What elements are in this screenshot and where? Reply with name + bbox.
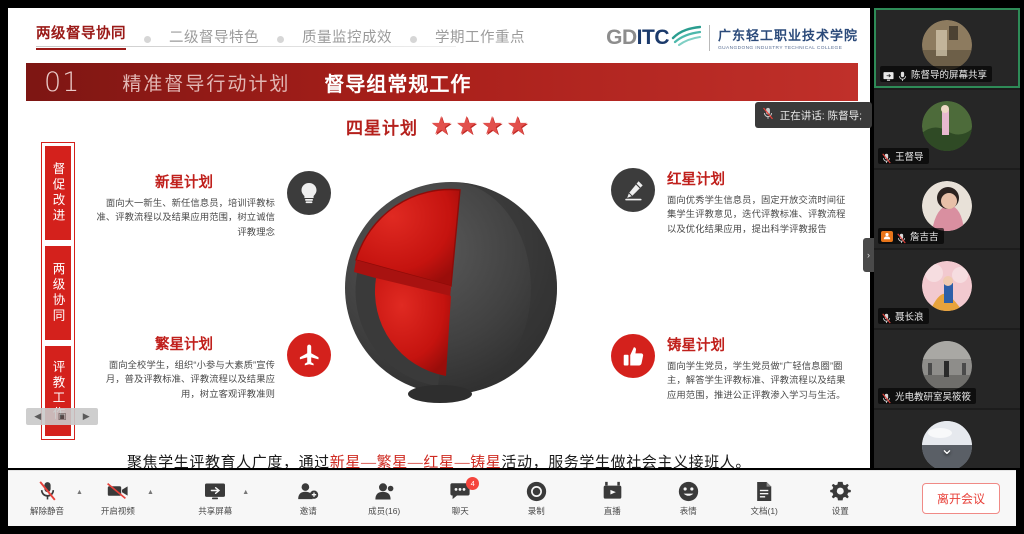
live-broadcast-icon <box>602 480 623 502</box>
plan-cast-star-body: 面向学生党员，学生党员做“广轻信息圈”圈主，解答学生评教标准、评教流程以及结果应… <box>667 359 849 402</box>
video-toggle-button[interactable]: 开启视频 <box>93 480 143 517</box>
slide-tab-3[interactable]: 学期工作重点 <box>435 26 525 47</box>
chat-label: 聊天 <box>452 505 469 517</box>
camera-off-icon <box>107 480 129 502</box>
slide-next-icon[interactable]: ▶ <box>83 411 90 422</box>
record-icon <box>526 480 547 502</box>
ribbon-segment-1: 两级协同 <box>45 246 71 340</box>
fourstar-rating: ★ ★ ★ ★ <box>430 114 529 139</box>
fourstar-heading: 四星计划 ★ ★ ★ ★ <box>346 114 529 139</box>
plan-new-star: 新星计划 面向大一新生、新任信息员，培训评教标准、评教流程以及结果应用范围，树立… <box>93 171 331 239</box>
logo-swoosh-icon <box>671 24 701 51</box>
avatar <box>922 101 972 151</box>
conclusion-prefix: 聚焦学生评教育人广度，通过 <box>127 455 330 468</box>
vertical-ribbon: 督促改进 两级协同 评教工作 <box>45 146 71 436</box>
plan-many-star-title: 繁星计划 <box>93 333 275 354</box>
star-icon: ★ <box>481 114 503 139</box>
slide-tab-2[interactable]: 质量监控成效 <box>302 26 392 47</box>
participant-filmstrip[interactable]: 陈督导的屏幕共享 <box>874 8 1020 468</box>
record-label: 录制 <box>528 505 545 517</box>
toolbar-right-group: 离开会议 <box>922 483 1000 514</box>
plan-new-star-body: 面向大一新生、新任信息员，培训评教标准、评教流程以及结果应用范围，树立诚信评教理… <box>93 196 275 239</box>
participant-tile[interactable]: 陈督导的屏幕共享 <box>874 8 1020 88</box>
tab-separator-dot-icon <box>410 36 417 43</box>
plan-cast-star-title: 铸星计划 <box>667 334 849 355</box>
star-icon: ★ <box>506 114 528 139</box>
plan-many-star-body: 面向全校学生，组织“小参与大素质”宣传月，普及评教标准、评教流程以及结果应用，树… <box>93 358 275 401</box>
plan-new-star-text: 新星计划 面向大一新生、新任信息员，培训评教标准、评教流程以及结果应用范围，树立… <box>93 171 275 239</box>
settings-button[interactable]: 设置 <box>815 480 865 517</box>
participant-name-chip: 王督导 <box>878 148 929 164</box>
screen-share-icon <box>883 69 894 80</box>
participants-icon <box>373 480 395 502</box>
slide-grid-icon[interactable]: ▣ <box>58 411 67 422</box>
live-broadcast-label: 直播 <box>604 505 621 517</box>
sphere-diagram <box>320 160 582 408</box>
live-broadcast-button[interactable]: 直播 <box>587 480 637 517</box>
share-screen-label: 共享屏幕 <box>198 505 232 517</box>
plan-red-star: 红星计划 面向优秀学生信息员，固定开放交流时间征集学生评教意见，迭代评教标准、评… <box>611 168 849 236</box>
microphone-muted-icon <box>38 480 57 502</box>
participant-name-chip: 光电教研室吴筱筱 <box>878 388 976 404</box>
emoji-button[interactable]: 表情 <box>663 480 713 517</box>
host-badge-icon <box>881 231 893 242</box>
participant-name: 光电教研室吴筱筱 <box>895 389 971 403</box>
plan-new-star-title: 新星计划 <box>93 171 275 192</box>
microphone-muted-icon <box>896 231 907 242</box>
toolbar-center-group: 共享屏幕 ▲ 邀请 <box>190 480 865 517</box>
star-icon: ★ <box>455 114 477 139</box>
participant-name-chip: 詹吉吉 <box>878 228 944 244</box>
participant-tile[interactable]: ⌄ <box>874 410 1020 468</box>
invite-person-icon <box>297 480 319 502</box>
gear-icon <box>830 480 851 502</box>
emoji-icon <box>678 480 699 502</box>
fourstar-label: 四星计划 <box>346 114 418 139</box>
slide-title-band: 01 精准督导行动计划 督导组常规工作 <box>26 63 858 101</box>
chat-button[interactable]: 4 聊天 <box>435 480 485 517</box>
logo-gd-text: GD <box>606 26 637 50</box>
document-icon <box>755 480 773 502</box>
slide-prev-icon[interactable]: ◀ <box>34 411 41 422</box>
participant-name: 聂长浪 <box>895 309 924 323</box>
fountain-pen-icon <box>611 168 655 212</box>
invite-button[interactable]: 邀请 <box>283 480 333 517</box>
meeting-window: 两级督导协同 二级督导特色 质量监控成效 学期工作重点 GD ITC <box>0 0 1024 534</box>
audio-options-caret-icon[interactable]: ▲ <box>76 489 83 496</box>
video-toggle-label: 开启视频 <box>101 505 135 517</box>
participants-label: 成员(16) <box>368 505 400 517</box>
leave-meeting-button[interactable]: 离开会议 <box>922 483 1000 514</box>
participant-tile[interactable]: 光电教研室吴筱筱 <box>874 330 1020 408</box>
tab-separator-dot-icon <box>277 36 284 43</box>
logo-en-text: GUANGDONG INDUSTRY TECHNICAL COLLEGE <box>718 46 858 51</box>
section-number: 01 <box>44 67 80 98</box>
participant-name: 王督导 <box>895 149 924 163</box>
toolbar-left-group: 解除静音 ▲ 开启视频 ▲ <box>22 480 162 517</box>
avatar <box>922 20 972 70</box>
document-label: 文档(1) <box>751 505 778 517</box>
shared-screen-slide[interactable]: 两级督导协同 二级督导特色 质量监控成效 学期工作重点 GD ITC <box>8 8 870 468</box>
avatar <box>922 341 972 391</box>
document-button[interactable]: 文档(1) <box>739 480 789 517</box>
microphone-muted-icon <box>881 151 892 162</box>
invite-label: 邀请 <box>300 505 317 517</box>
scroll-down-chevron-icon[interactable]: ⌄ <box>940 439 953 459</box>
mute-toggle-button[interactable]: 解除静音 <box>22 480 72 517</box>
airplane-icon <box>287 333 331 377</box>
share-screen-button[interactable]: 共享屏幕 <box>190 480 240 517</box>
lightbulb-icon <box>287 171 331 215</box>
plan-cast-star: 铸星计划 面向学生党员，学生党员做“广轻信息圈”圈主，解答学生评教标准、评教流程… <box>611 334 849 402</box>
slide-topnav: 两级督导协同 二级督导特色 质量监控成效 学期工作重点 GD ITC <box>8 8 870 56</box>
logo-divider <box>709 25 710 51</box>
microphone-muted-icon <box>897 69 908 80</box>
star-icon: ★ <box>430 114 452 139</box>
thumbs-up-icon <box>611 334 655 378</box>
section-subtitle: 精准督导行动计划 <box>122 69 290 96</box>
plan-red-star-title: 红星计划 <box>667 168 849 189</box>
participant-tile[interactable]: 王督导 <box>874 90 1020 168</box>
plan-many-star-text: 繁星计划 面向全校学生，组织“小参与大素质”宣传月，普及评教标准、评教流程以及结… <box>93 333 275 401</box>
chevron-right-icon: › <box>867 250 870 260</box>
speaking-now-toast: 正在讲话: 陈督导; <box>755 102 872 128</box>
participants-button[interactable]: 成员(16) <box>359 480 409 517</box>
avatar <box>922 261 972 311</box>
microphone-muted-icon <box>762 107 774 123</box>
settings-label: 设置 <box>832 505 849 517</box>
participant-tile[interactable]: 聂长浪 <box>874 250 1020 328</box>
microphone-muted-icon <box>881 391 892 402</box>
section-title: 督导组常规工作 <box>324 68 471 97</box>
slide-control-bar[interactable]: ◀ ▣ ▶ <box>26 408 98 425</box>
meeting-toolbar: 解除静音 ▲ 开启视频 ▲ <box>8 470 1016 526</box>
college-logo: GD ITC 广东轻工职业技术学院 GUANGDONG INDUSTRY TEC… <box>606 24 858 51</box>
tab-separator-dot-icon <box>144 36 151 43</box>
participant-name-chip: 聂长浪 <box>878 308 929 324</box>
plan-red-star-body: 面向优秀学生信息员，固定开放交流时间征集学生评教意见，迭代评教标准、评教流程以及… <box>667 193 849 236</box>
screen-share-icon <box>204 480 226 502</box>
chat-unread-badge: 4 <box>466 477 479 490</box>
conclusion-suffix: 活动，服务学生做社会主义接班人。 <box>501 455 751 468</box>
filmstrip-collapse-handle[interactable]: › <box>863 238 874 272</box>
conclusion-highlight: 新星—繁星—红星—铸星 <box>330 455 502 468</box>
ribbon-segment-0: 督促改进 <box>45 146 71 240</box>
plan-cast-star-text: 铸星计划 面向学生党员，学生党员做“广轻信息圈”圈主，解答学生评教标准、评教流程… <box>667 334 849 402</box>
video-options-caret-icon[interactable]: ▲ <box>147 489 154 496</box>
logo-cn-text: 广东轻工职业技术学院 <box>718 25 858 44</box>
speaking-toast-label: 正在讲话: 陈督导; <box>780 108 862 123</box>
mute-toggle-label: 解除静音 <box>30 505 64 517</box>
participant-tile[interactable]: 詹吉吉 <box>874 170 1020 248</box>
share-options-caret-icon[interactable]: ▲ <box>242 489 249 496</box>
emoji-label: 表情 <box>680 505 697 517</box>
participant-name-chip: 陈督导的屏幕共享 <box>880 66 992 82</box>
participant-name: 陈督导的屏幕共享 <box>911 67 987 81</box>
logo-itc-text: ITC <box>637 26 669 50</box>
record-button[interactable]: 录制 <box>511 480 561 517</box>
slide-tab-1[interactable]: 二级督导特色 <box>169 26 259 47</box>
plan-red-star-text: 红星计划 面向优秀学生信息员，固定开放交流时间征集学生评教意见，迭代评教标准、评… <box>667 168 849 236</box>
slide-conclusion: 聚焦学生评教育人广度，通过新星—繁星—红星—铸星活动，服务学生做社会主义接班人。 <box>8 451 870 468</box>
plan-many-star: 繁星计划 面向全校学生，组织“小参与大素质”宣传月，普及评教标准、评教流程以及结… <box>93 333 331 401</box>
tab-underline-rule <box>36 46 456 47</box>
microphone-muted-icon <box>881 311 892 322</box>
avatar <box>922 181 972 231</box>
participant-name: 詹吉吉 <box>910 229 939 243</box>
